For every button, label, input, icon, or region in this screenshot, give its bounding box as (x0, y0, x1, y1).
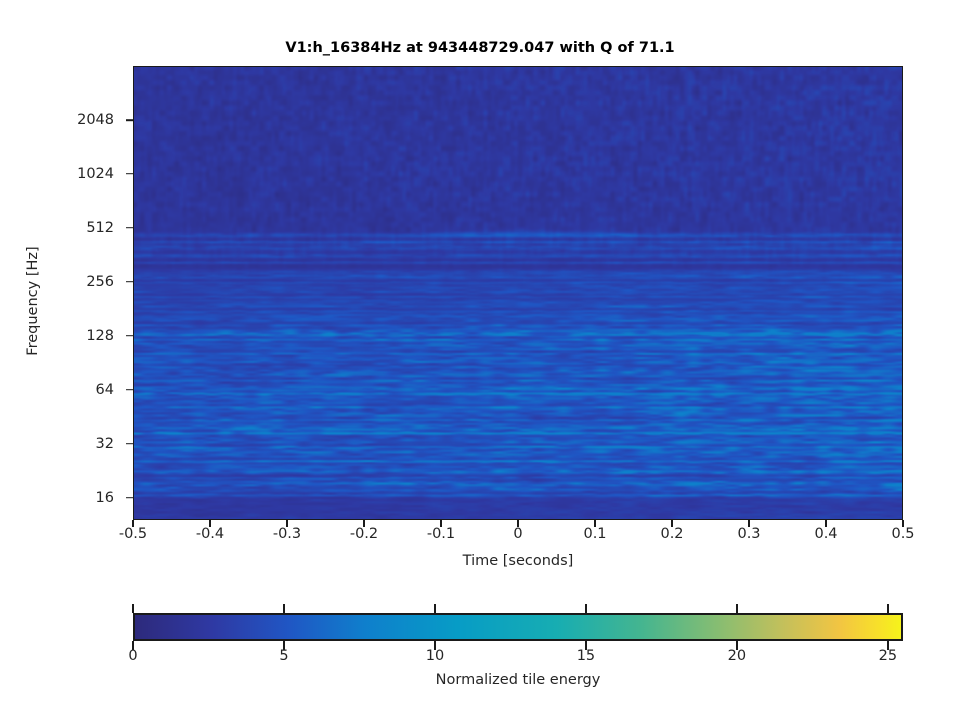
colorbar-tick-label: 5 (254, 648, 314, 664)
x-axis-tick-label: 0.2 (637, 526, 707, 542)
x-axis-tick-label: -0.2 (329, 526, 399, 542)
x-axis-tick-mark (440, 520, 442, 527)
colorbar-tick-label: 0 (103, 648, 163, 664)
x-axis-tick-label: 0 (483, 526, 553, 542)
x-axis-tick-mark (594, 520, 596, 527)
x-axis-tick-mark (825, 520, 827, 527)
x-axis-label: Time [seconds] (133, 553, 903, 569)
x-axis-tick-mark (671, 520, 673, 527)
colorbar (133, 613, 903, 641)
colorbar-tick-label: 10 (405, 648, 465, 664)
x-axis: -0.5-0.4-0.3-0.2-0.100.10.20.30.40.5 (0, 0, 960, 720)
x-axis-tick-label: 0.1 (560, 526, 630, 542)
colorbar-tick-mark (887, 604, 888, 613)
colorbar-label: Normalized tile energy (133, 672, 903, 688)
x-axis-tick-mark (209, 520, 211, 527)
x-axis-tick-label: 0.5 (868, 526, 938, 542)
colorbar-tick-label: 15 (556, 648, 616, 664)
colorbar-tick-label: 25 (858, 648, 918, 664)
x-axis-tick-mark (286, 520, 288, 527)
colorbar-gradient (135, 615, 901, 639)
x-axis-tick-mark (517, 520, 519, 527)
colorbar-tick-mark (132, 604, 133, 613)
colorbar-tick-mark (736, 604, 737, 613)
x-axis-tick-label: -0.3 (252, 526, 322, 542)
x-axis-tick-label: 0.3 (714, 526, 784, 542)
colorbar-tick-mark (585, 604, 586, 613)
x-axis-tick-mark (748, 520, 750, 527)
colorbar-tick-mark (434, 604, 435, 613)
colorbar-tick-label: 20 (707, 648, 767, 664)
colorbar-tick-mark (283, 604, 284, 613)
x-axis-tick-label: 0.4 (791, 526, 861, 542)
x-axis-tick-label: -0.5 (98, 526, 168, 542)
x-axis-tick-mark (902, 520, 904, 527)
x-axis-tick-label: -0.4 (175, 526, 245, 542)
x-axis-tick-label: -0.1 (406, 526, 476, 542)
x-axis-tick-mark (132, 520, 134, 527)
x-axis-tick-mark (363, 520, 365, 527)
